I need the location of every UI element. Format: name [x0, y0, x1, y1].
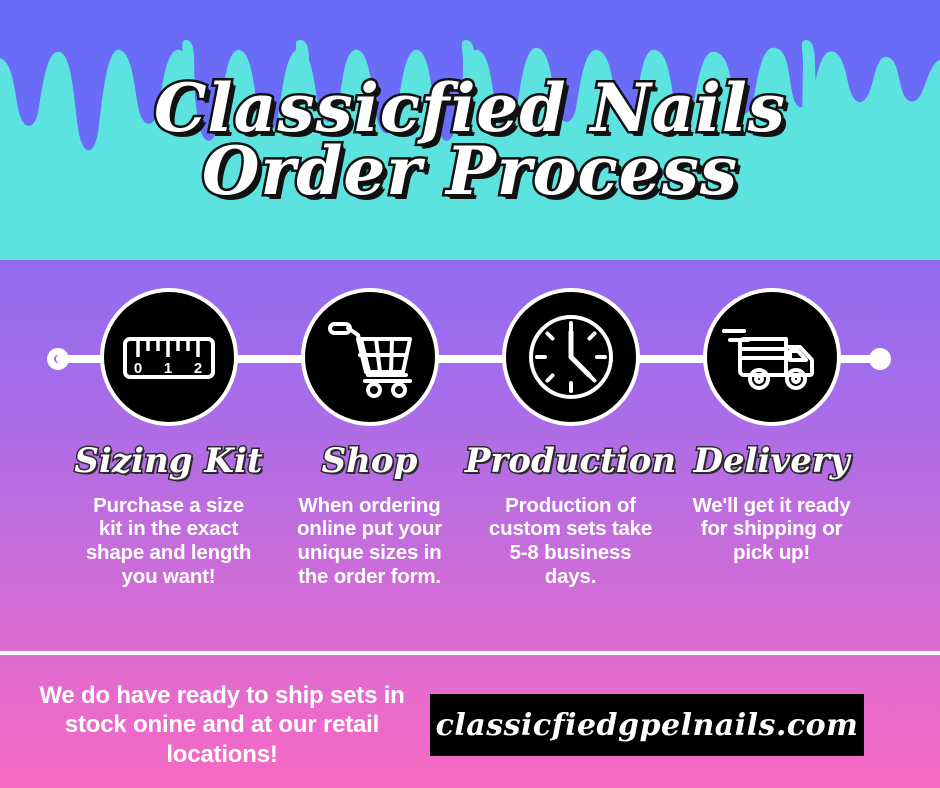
step-description: Purchase a size kit in the exact shape a…: [81, 494, 257, 589]
step-title: Production: [465, 444, 676, 480]
website-bar[interactable]: classicfiedgpelnails.com: [430, 694, 864, 756]
ruler-mark-2: 2: [193, 360, 201, 377]
step-icon-badge: [703, 288, 841, 426]
process-steps: 0 1 2 Sizing Kit Purchase a size kit in …: [0, 288, 940, 589]
shopping-cart-icon: [324, 315, 416, 399]
title-line-2: Order Process: [0, 141, 940, 202]
process-step: Delivery We'll get it ready for shipping…: [671, 288, 872, 589]
website-url[interactable]: classicfiedgpelnails.com: [436, 708, 859, 743]
page-title: Classicfied Nails Order Process: [0, 78, 940, 203]
process-step: Shop When ordering online put your uniqu…: [269, 288, 470, 589]
ruler-mark-0: 0: [133, 360, 141, 377]
step-title: Delivery: [693, 444, 849, 480]
step-title: Shop: [322, 444, 418, 480]
clock-icon: [519, 305, 623, 409]
title-line-1: Classicfied Nails: [0, 78, 940, 139]
ruler-mark-1: 1: [163, 360, 171, 377]
step-description: We'll get it ready for shipping or pick …: [684, 494, 860, 565]
footer: We do have ready to ship sets in stock o…: [0, 662, 940, 788]
step-description: Production of custom sets take 5-8 busin…: [483, 494, 659, 589]
step-description: When ordering online put your unique siz…: [282, 494, 458, 589]
ruler-icon: 0 1 2: [121, 327, 217, 387]
step-icon-badge: [301, 288, 439, 426]
step-title: Sizing Kit: [74, 444, 262, 480]
footer-note: We do have ready to ship sets in stock o…: [22, 681, 422, 769]
footer-divider: [0, 651, 940, 655]
step-icon-badge: 0 1 2: [100, 288, 238, 426]
process-step: 0 1 2 Sizing Kit Purchase a size kit in …: [68, 288, 269, 589]
infographic-poster: Classicfied Nails Order Process: [0, 0, 940, 788]
delivery-truck-icon: [722, 321, 822, 393]
step-icon-badge: [502, 288, 640, 426]
process-step: Production Production of custom sets tak…: [470, 288, 671, 589]
